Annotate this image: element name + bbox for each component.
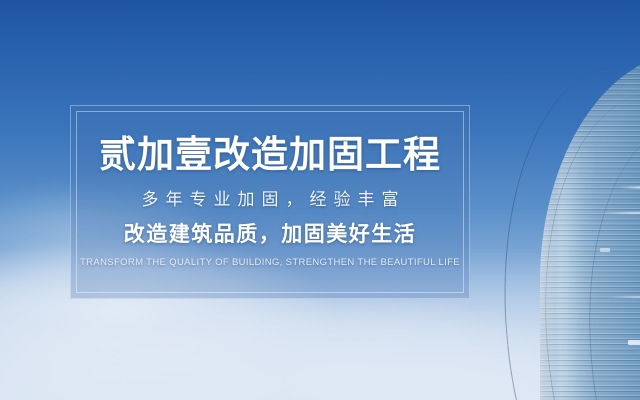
banner-english-subtitle: TRANSFORM THE QUALITY OF BUILDING, STREN… <box>80 258 460 268</box>
tower-body <box>540 52 640 400</box>
banner-text-block: 贰加壹改造加固工程 多年专业加固，经验丰富 改造建筑品质，加固美好生活 TRAN… <box>71 106 469 298</box>
banner-headline: 贰加壹改造加固工程 <box>99 136 441 173</box>
text-frame: 贰加壹改造加固工程 多年专业加固，经验丰富 改造建筑品质，加固美好生活 TRAN… <box>70 105 470 299</box>
skyscraper-image <box>492 0 640 400</box>
banner-stage: 贰加壹改造加固工程 多年专业加固，经验丰富 改造建筑品质，加固美好生活 TRAN… <box>0 0 640 400</box>
banner-subline: 多年专业加固，经验丰富 <box>135 191 406 208</box>
banner-tagline: 改造建筑品质，加固美好生活 <box>124 224 417 245</box>
